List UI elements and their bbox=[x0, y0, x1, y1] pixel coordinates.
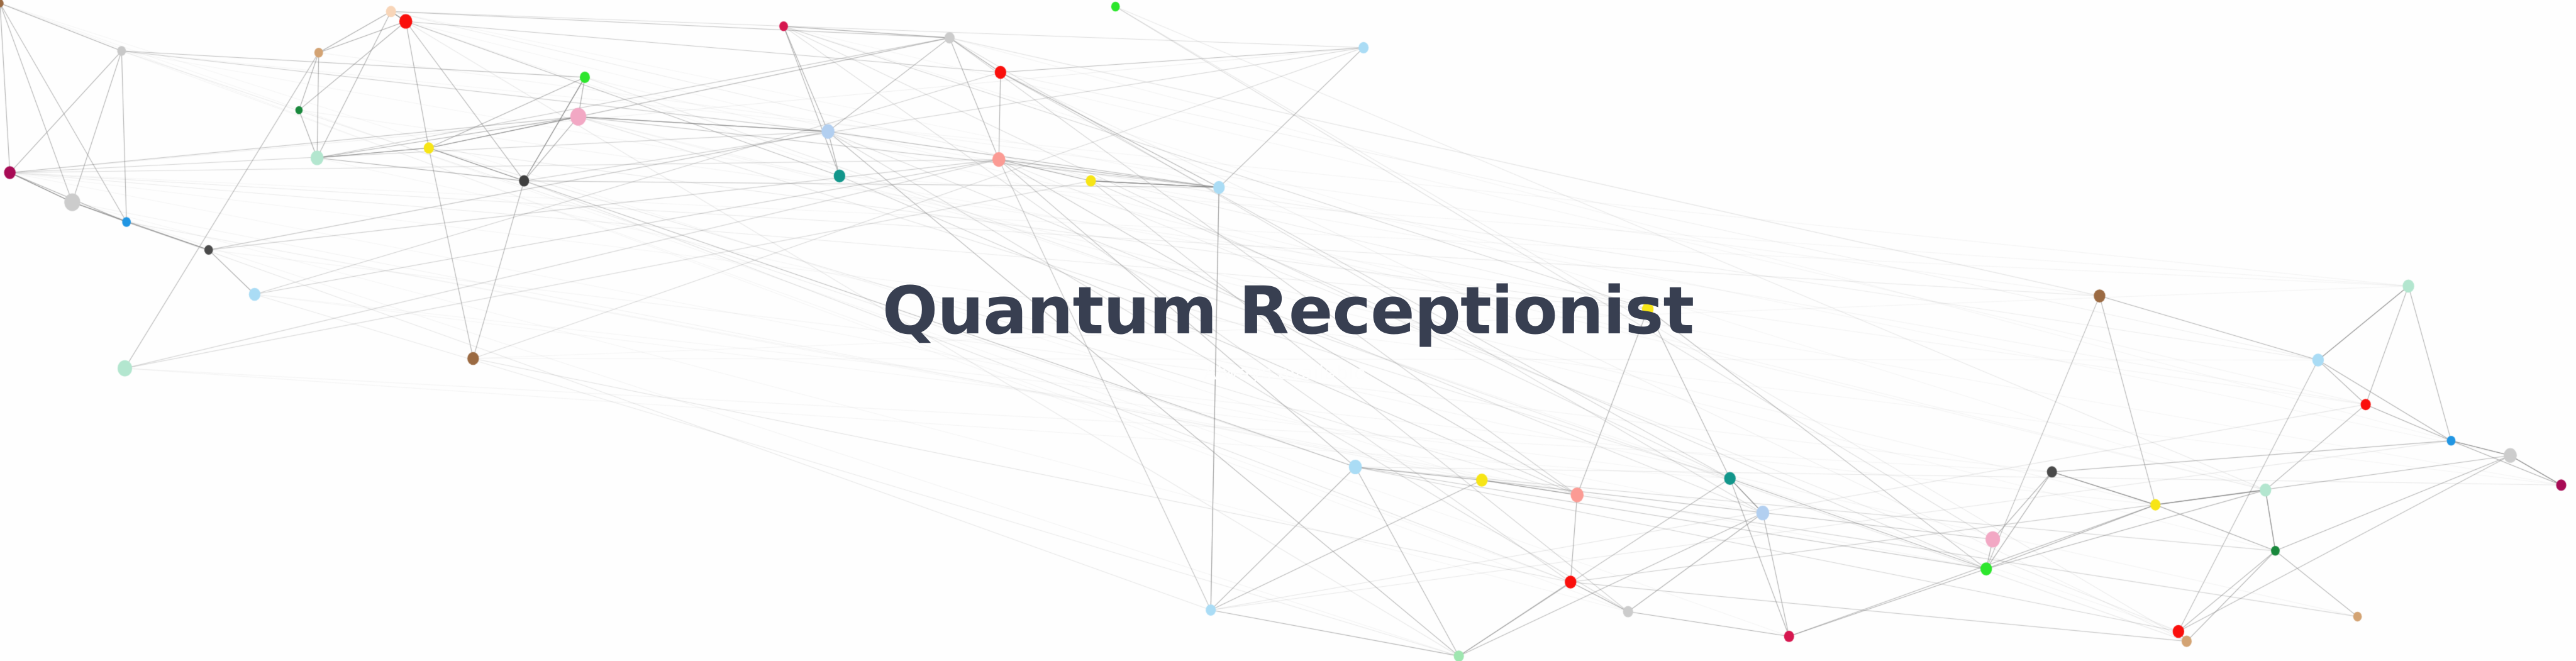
hero-banner: Quantum Receptionist Always available. bbox=[0, 0, 2576, 661]
particle-network-canvas bbox=[0, 0, 2576, 661]
